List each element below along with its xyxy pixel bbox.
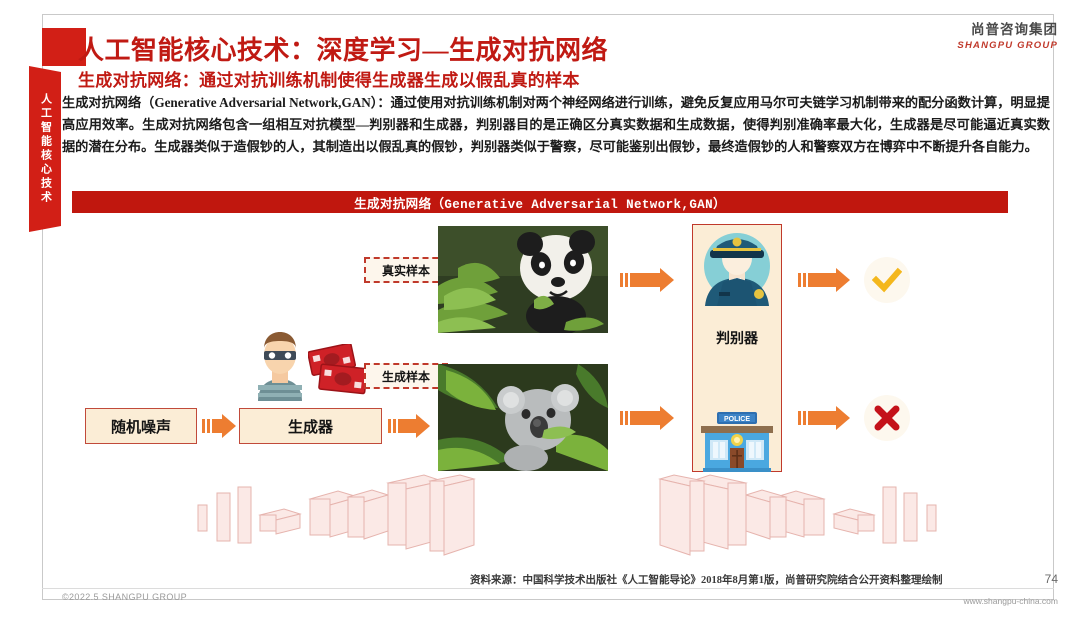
page-title: 人工智能核心技术：深度学习—生成对抗网络 (78, 30, 608, 67)
arrow-discriminator-to-accept (798, 268, 854, 292)
cnn-decoration-right (612, 473, 942, 563)
cross-mark-icon (873, 404, 901, 432)
police-officer-icon (697, 230, 777, 306)
counterfeit-money-icon (308, 344, 370, 396)
reject-result (864, 395, 910, 441)
arrow-fake-to-discriminator (620, 406, 678, 430)
body-paragraph: 生成对抗网络（Generative Adversarial Network,GA… (62, 92, 1050, 158)
accept-result (864, 257, 910, 303)
brand-logo-en: SHANGPU GROUP (957, 40, 1058, 51)
footer-page-number: 74 (1045, 572, 1058, 586)
brand-logo: 尚普咨询集团 SHANGPU GROUP (957, 18, 1058, 51)
real-sample-photo (438, 226, 608, 333)
sidebar-vertical-tab: 人工智能核心技术 (29, 66, 61, 232)
slide-root: 人工智能核心技术 尚普咨询集团 SHANGPU GROUP 人工智能核心技术：深… (0, 0, 1080, 623)
discriminator-label: 判别器 (692, 328, 782, 348)
police-station-icon: POLICE (699, 408, 775, 472)
cnn-decoration-left (192, 473, 522, 563)
thief-icon (250, 327, 310, 401)
arrow-generator-to-sample (388, 414, 432, 438)
arrow-real-to-discriminator (620, 268, 678, 292)
tag-generated-sample: 生成样本 (364, 363, 448, 389)
page-subtitle: 生成对抗网络：通过对抗训练机制使得生成器生成以假乱真的样本 (78, 66, 580, 91)
generator-box: 生成器 (239, 408, 382, 444)
arrow-noise-to-generator (202, 414, 234, 438)
check-mark-icon (872, 265, 902, 295)
footer-url: www.shangpu-china.com (964, 596, 1059, 606)
brand-logo-cn: 尚普咨询集团 (957, 18, 1058, 38)
footer-divider (42, 588, 1054, 589)
arrow-discriminator-to-reject (798, 406, 854, 430)
gan-diagram: 随机噪声 生成器 (42, 218, 1054, 558)
random-noise-box: 随机噪声 (85, 408, 197, 444)
svg-text:POLICE: POLICE (724, 416, 750, 423)
sidebar-vertical-label: 人工智能核心技术 (40, 93, 51, 205)
generated-sample-photo (438, 364, 608, 471)
footer-copyright: ©2022.5 SHANGPU GROUP (62, 592, 187, 602)
tag-real-sample: 真实样本 (364, 257, 448, 283)
footer-source: 资料来源：中国科学技术出版社《人工智能导论》2018年8月第1版，尚普研究院结合… (470, 572, 943, 587)
section-banner: 生成对抗网络（Generative Adversarial Network,GA… (72, 191, 1008, 213)
